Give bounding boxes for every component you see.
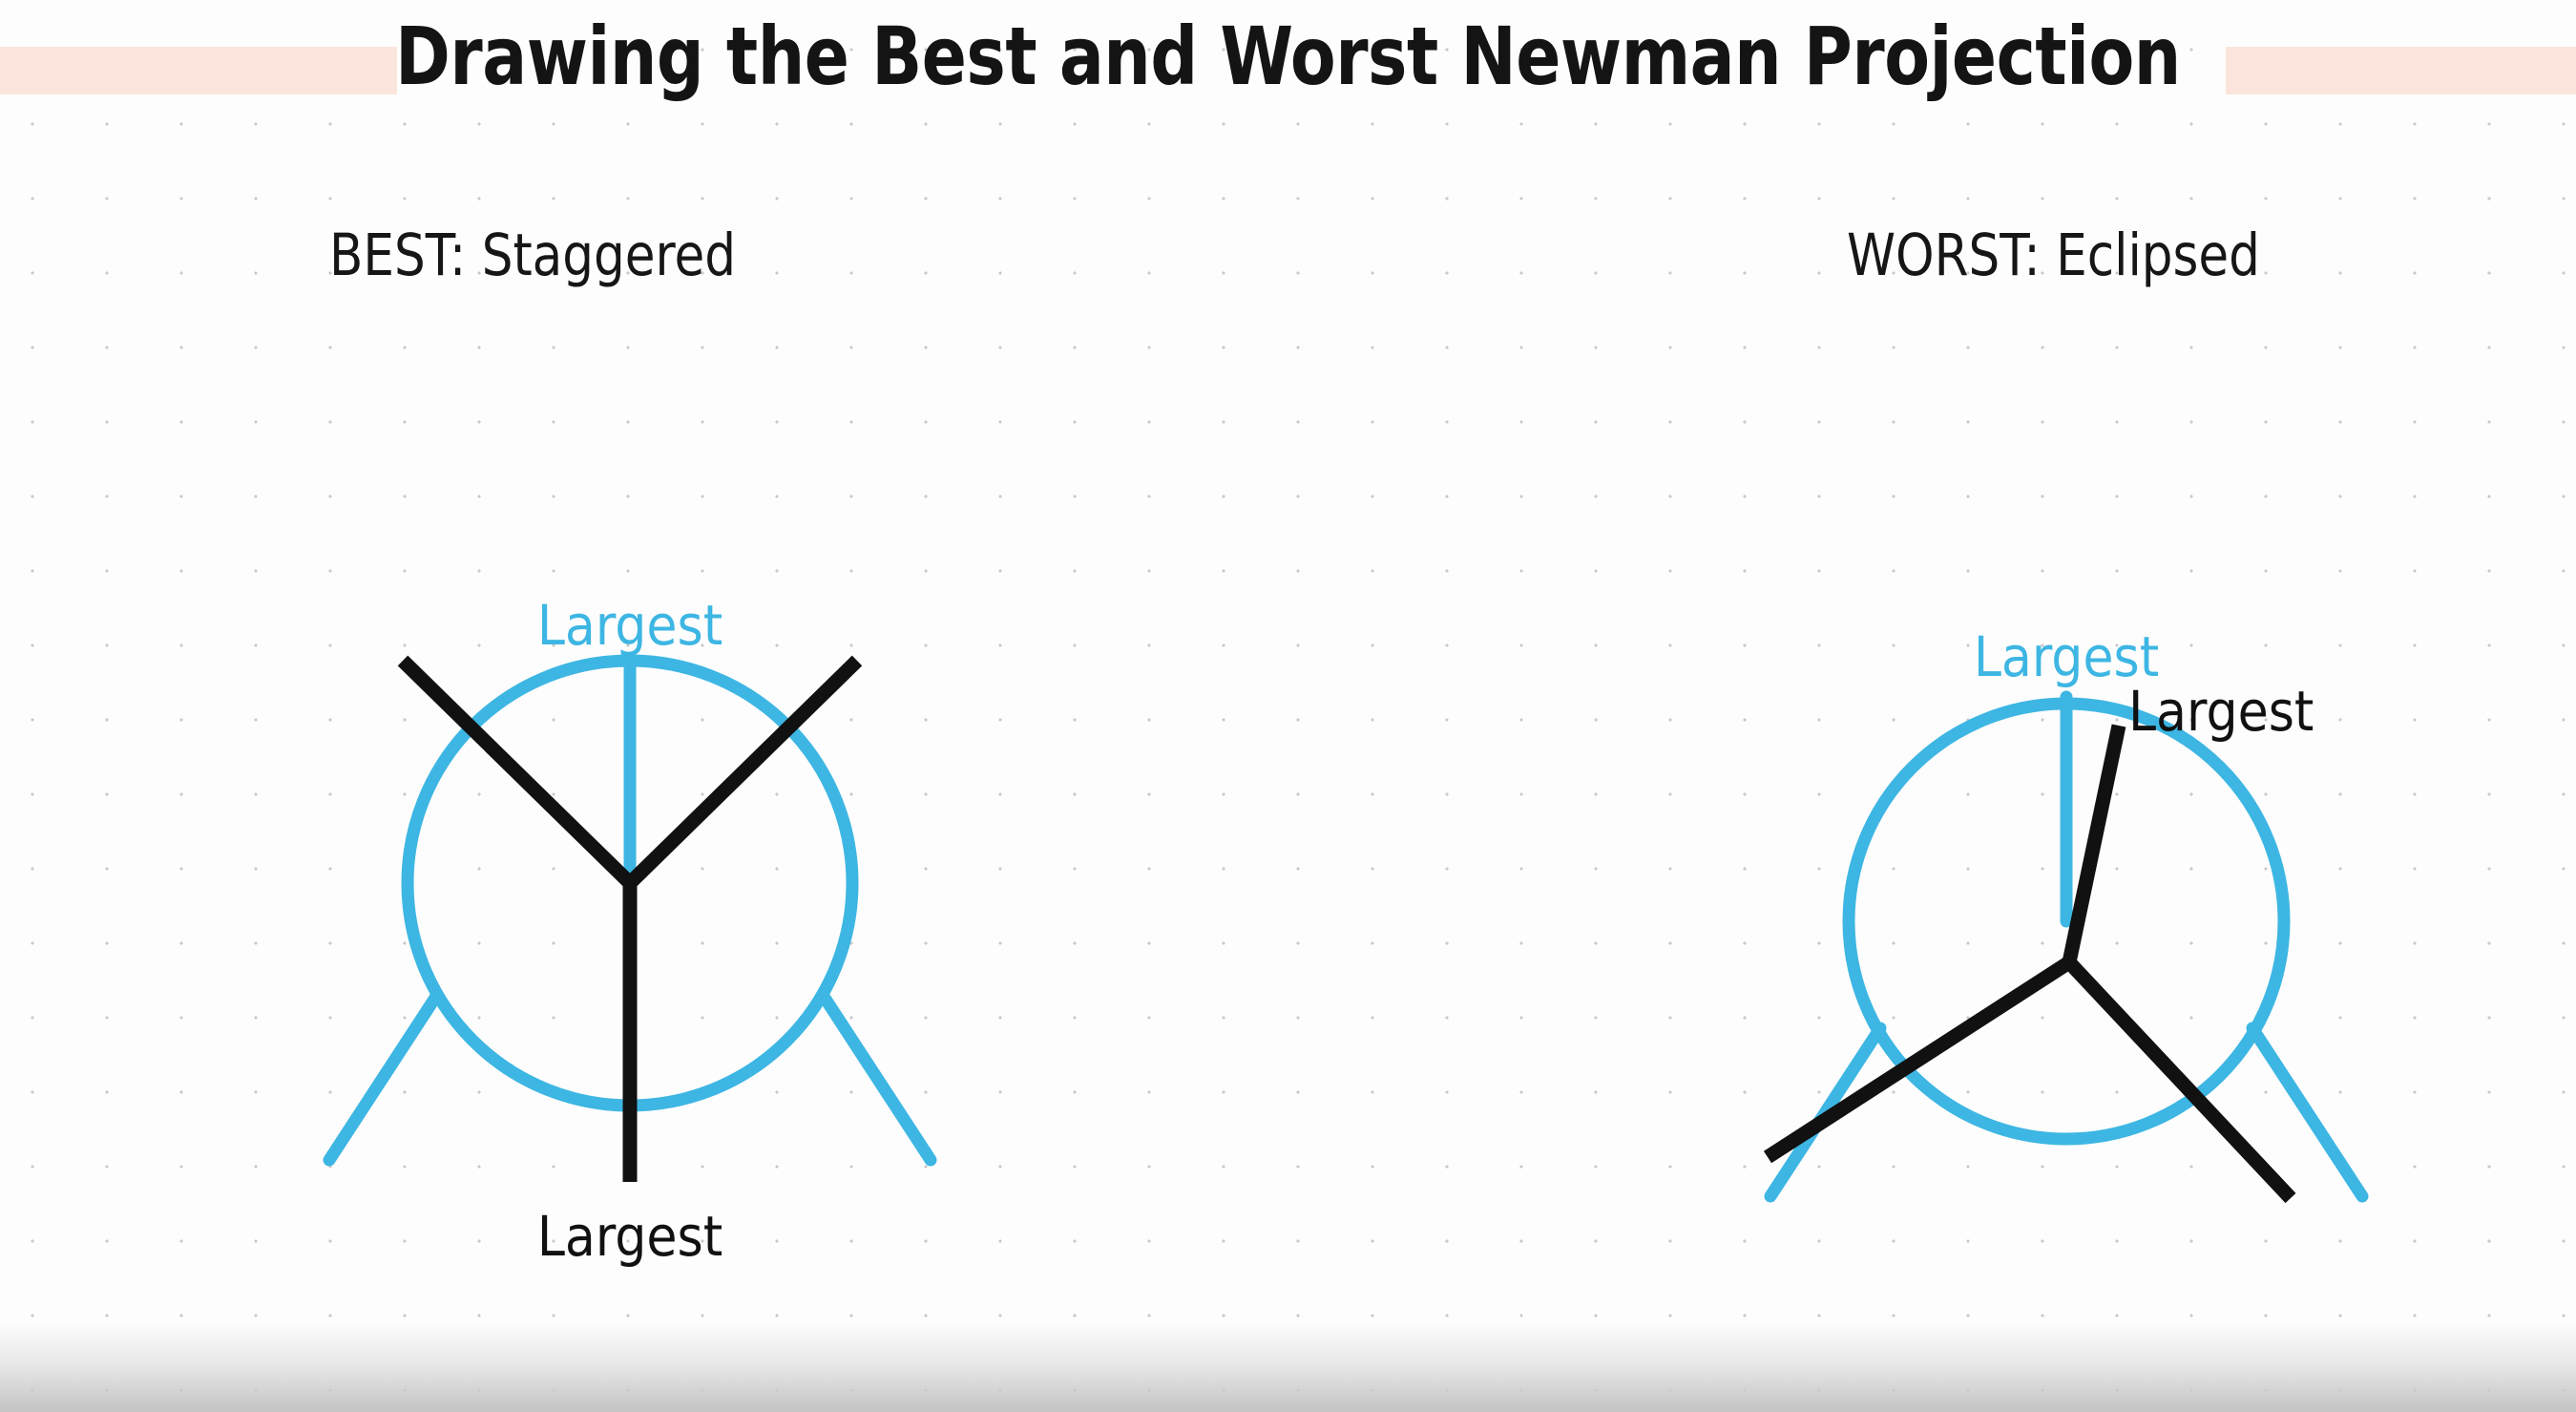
- front-bond-up-black: [2069, 726, 2119, 962]
- page-title: Drawing the Best and Worst Newman Projec…: [103, 0, 2473, 113]
- newman-projection-staggered: Largest Largest: [286, 401, 1012, 1260]
- bottom-gradient-strip: [0, 1321, 2576, 1412]
- rear-bond-down-right-blue: [823, 995, 931, 1160]
- newman-projection-eclipsed: Largest Largest: [1737, 439, 2501, 1270]
- label-largest-rear-blue: Largest: [537, 593, 723, 658]
- caption-worst-eclipsed: WORST: Eclipsed: [1847, 221, 2260, 289]
- front-bond-down-left-black: [1768, 962, 2069, 1157]
- caption-best-staggered: BEST: Staggered: [329, 221, 736, 289]
- front-bond-down-right-black: [2069, 962, 2291, 1198]
- label-largest-front-black: Largest: [537, 1204, 723, 1269]
- label-largest-front-black: Largest: [2128, 679, 2314, 744]
- rear-bond-down-left-blue: [329, 995, 437, 1160]
- slide-canvas: Drawing the Best and Worst Newman Projec…: [0, 0, 2576, 1412]
